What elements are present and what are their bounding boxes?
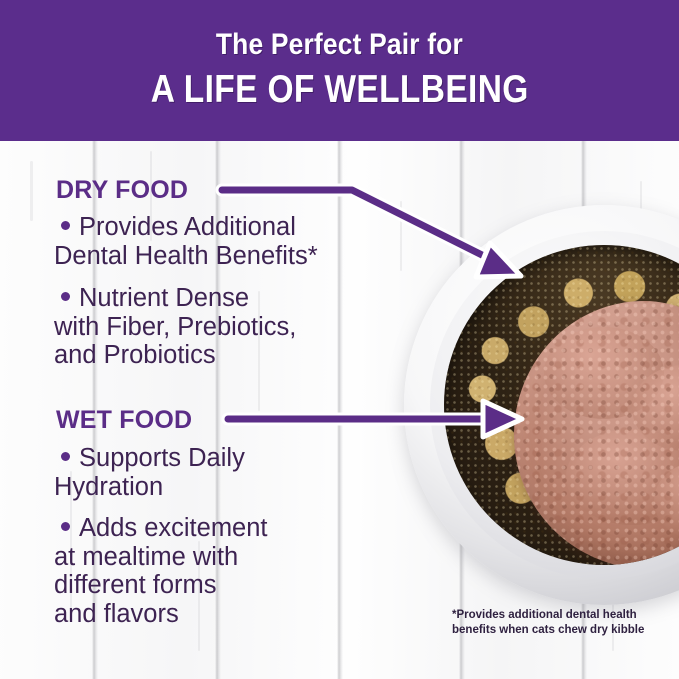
bullet-text: Supports Daily xyxy=(79,444,245,472)
bullet-dry-2: Nutrient Dense with Fiber, Prebiotics, a… xyxy=(54,284,296,370)
section-heading-wet-food: WET FOOD xyxy=(56,406,192,435)
section-heading-dry-food: DRY FOOD xyxy=(56,176,188,205)
promo-infographic: The Perfect Pair for A LIFE OF WELLBEING xyxy=(0,0,679,679)
footnote: *Provides additional dental health benef… xyxy=(452,608,674,637)
bullet-text: and Probiotics xyxy=(54,341,296,370)
wet-food-arrow xyxy=(228,401,522,437)
bullet-text: and flavors xyxy=(54,600,268,629)
bullet-text: Hydration xyxy=(54,473,245,502)
bullet-wet-2: Adds excitement at mealtime with differe… xyxy=(54,514,268,628)
bullet-text: with Fiber, Prebiotics, xyxy=(54,313,296,342)
bullet-wet-1: Supports Daily Hydration xyxy=(54,444,245,501)
bullet-dry-1: Provides Additional Dental Health Benefi… xyxy=(54,213,318,270)
footnote-line2: benefits when cats chew dry kibble xyxy=(452,623,674,638)
bullet-text: different forms xyxy=(54,571,268,600)
bullet-dot-icon xyxy=(61,522,70,531)
footnote-line1: *Provides additional dental health xyxy=(452,608,674,623)
bullet-text: Provides Additional xyxy=(79,213,296,241)
bullet-text: Adds excitement xyxy=(79,514,268,542)
bullet-dot-icon xyxy=(61,292,70,301)
bullet-text: at mealtime with xyxy=(54,543,268,572)
bullet-text: Nutrient Dense xyxy=(79,284,249,312)
bullet-dot-icon xyxy=(61,452,70,461)
bullet-dot-icon xyxy=(61,221,70,230)
bullet-text: Dental Health Benefits* xyxy=(54,242,318,271)
